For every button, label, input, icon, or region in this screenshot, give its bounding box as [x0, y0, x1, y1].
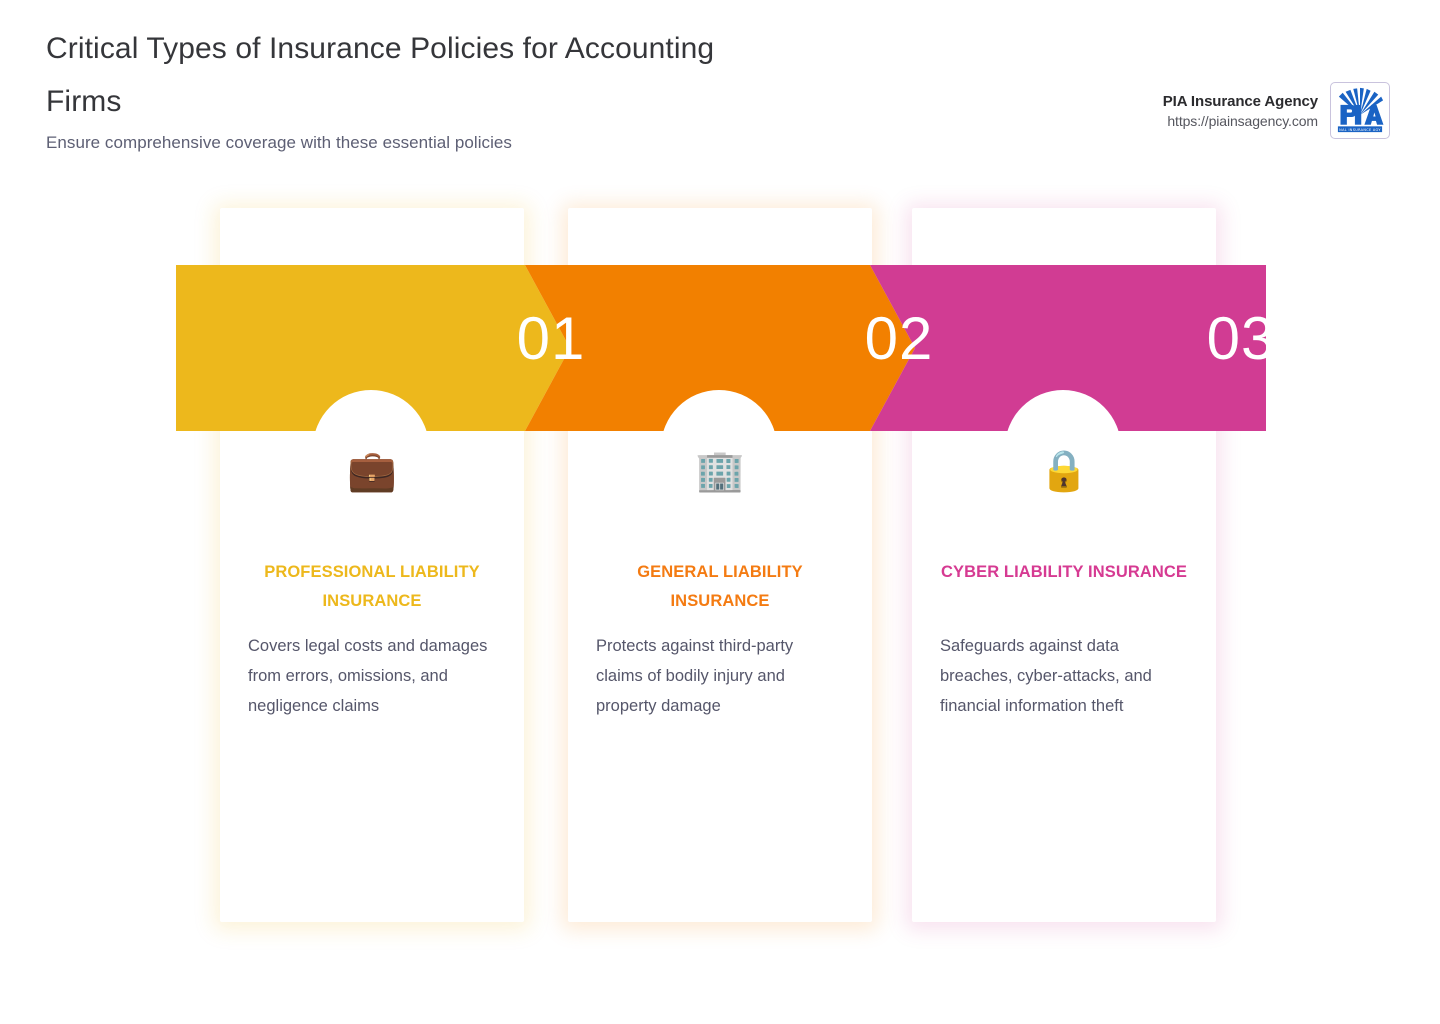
- step-number-1: 01: [451, 265, 651, 431]
- step-title-3: CYBER LIABILITY INSURANCE: [940, 558, 1188, 587]
- step-description-2: Protects against third-party claims of b…: [596, 631, 844, 721]
- step-description-3: Safeguards against data breaches, cyber-…: [940, 631, 1188, 721]
- step-number-3: 03: [1141, 265, 1341, 431]
- briefcase-icon: 💼: [220, 448, 524, 494]
- step-description-1: Covers legal costs and damages from erro…: [248, 631, 496, 721]
- step-number-2: 02: [799, 265, 999, 431]
- step-title-2: GENERAL LIABILITY INSURANCE: [596, 558, 844, 616]
- lock-icon: 🔒: [912, 448, 1216, 494]
- office-building-icon: 🏢: [568, 448, 872, 494]
- steps-container: 💼 PROFESSIONAL LIABILITY INSURANCE Cover…: [0, 0, 1440, 1024]
- step-title-1: PROFESSIONAL LIABILITY INSURANCE: [248, 558, 496, 616]
- infographic-page: Critical Types of Insurance Policies for…: [0, 0, 1440, 1024]
- step-ribbon: 01 02 03: [176, 265, 1266, 431]
